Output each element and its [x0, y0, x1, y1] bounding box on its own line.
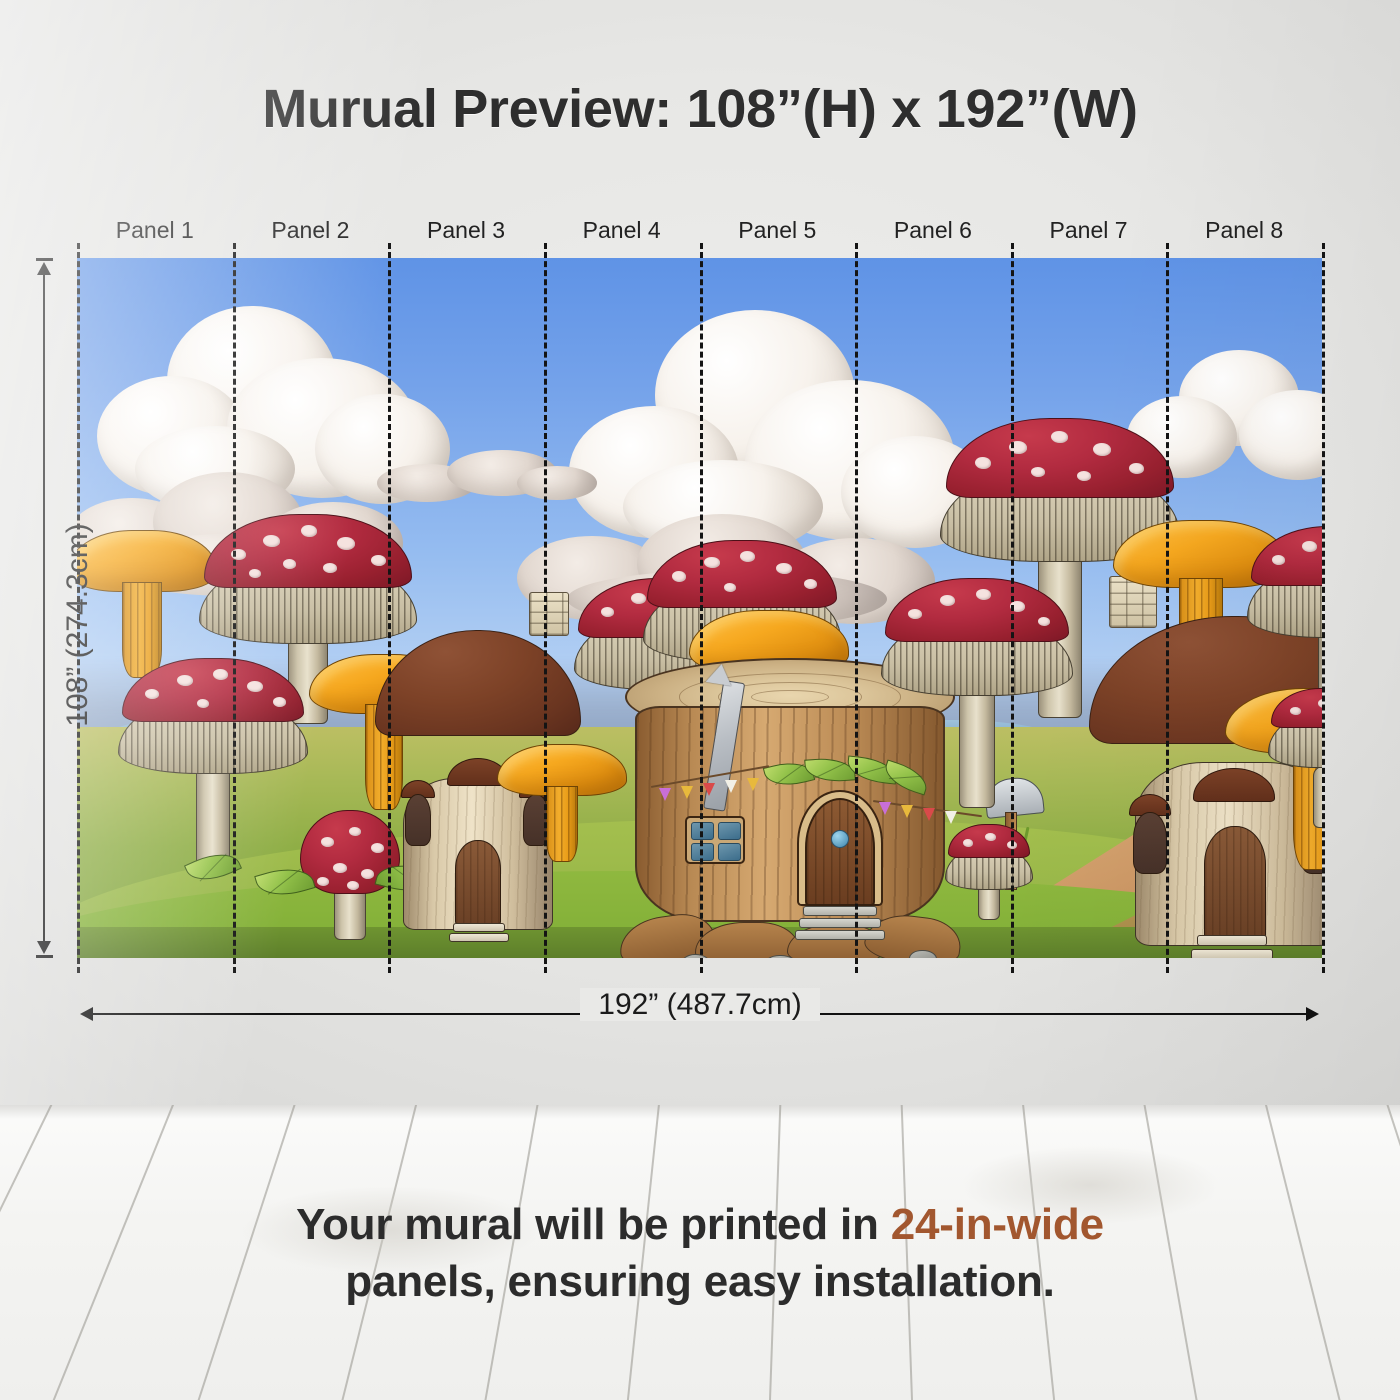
bunting-flag — [725, 780, 737, 793]
arrowhead-down-icon — [37, 941, 51, 954]
stone-step — [803, 906, 877, 916]
caption-text: Your mural will be printed in 24-in-wide… — [0, 1196, 1400, 1310]
width-dimension-text: 192” (487.7cm) — [580, 988, 819, 1021]
fly-agaric-near-mailbox — [943, 824, 1035, 920]
cottage-roof-cap — [375, 630, 581, 736]
panel-label-5: Panel 5 — [700, 215, 856, 249]
mushroom-stem — [1313, 766, 1322, 828]
mushroom-cap-red — [885, 578, 1069, 642]
panel-label-6: Panel 6 — [855, 215, 1011, 249]
mushroom-cap-red — [647, 540, 837, 608]
panel-label-8: Panel 8 — [1166, 215, 1322, 249]
fly-agaric-right-edge-small — [1265, 688, 1322, 828]
window-pane — [718, 822, 741, 840]
window-pane — [691, 822, 714, 840]
bunting-flag — [923, 808, 935, 821]
door-knob — [831, 830, 849, 848]
cottage-door — [1204, 826, 1266, 938]
mushroom-cap-red — [204, 514, 412, 588]
fly-agaric-lower-left — [113, 658, 313, 868]
bunting-flag — [747, 778, 759, 791]
panel-label-1: Panel 1 — [77, 215, 233, 249]
mushroom-cap-red — [948, 824, 1030, 858]
height-dimension-arrow — [36, 258, 52, 958]
height-dimension-label: 108” (274.3cm) — [61, 475, 95, 775]
dimension-line-vertical — [43, 266, 45, 950]
door-step — [453, 923, 505, 932]
wall-floor-shadow — [0, 1105, 1400, 1119]
mushroom-cap-red — [1251, 526, 1322, 586]
chanterelle-mushroom-left-low — [497, 744, 627, 796]
stone-step — [799, 918, 881, 928]
cottage-door — [455, 840, 501, 924]
mushroom-cap-red — [122, 658, 304, 722]
stone-step — [795, 930, 885, 940]
caption-line1-prefix: Your mural will be printed in — [296, 1200, 891, 1249]
caption-line2: panels, ensuring easy installation. — [0, 1253, 1400, 1310]
mushroom-cap-red — [946, 418, 1174, 498]
dimension-tick-top — [36, 258, 53, 261]
bunting-flag — [681, 786, 693, 799]
dimension-tick-bottom — [36, 955, 53, 958]
door-step — [1191, 949, 1273, 958]
cottage-window-left — [405, 794, 431, 846]
stone-chimney-left — [529, 592, 569, 636]
panel-divider-edge-right — [1322, 243, 1325, 973]
bunting-flag — [659, 788, 671, 801]
door-step — [449, 933, 509, 942]
mushroom-cap-red — [1271, 688, 1322, 728]
wall-background: Murual Preview: 108”(H) x 192”(W) Panel … — [0, 0, 1400, 1105]
window-pane — [691, 843, 714, 861]
door-step — [1197, 935, 1267, 946]
panel-label-7: Panel 7 — [1011, 215, 1167, 249]
panel-label-2: Panel 2 — [233, 215, 389, 249]
page-title: Murual Preview: 108”(H) x 192”(W) — [0, 78, 1400, 140]
chanterelle-stem — [546, 786, 578, 862]
chimney-cap-icon — [706, 662, 735, 686]
window-pane — [718, 843, 741, 861]
caption-accent-text: 24-in-wide — [891, 1200, 1104, 1249]
fly-agaric-mid-right — [877, 578, 1077, 808]
panel-label-4: Panel 4 — [544, 215, 700, 249]
mural-preview-image — [77, 258, 1322, 958]
bunting-flag — [703, 783, 715, 796]
stump-window — [685, 816, 745, 864]
stump-door — [805, 798, 875, 906]
width-dimension-label: 192” (487.7cm) — [0, 988, 1400, 1022]
panel-label-row: Panel 1 Panel 2 Panel 3 Panel 4 Panel 5 … — [77, 215, 1322, 249]
bunting-flag — [945, 811, 957, 824]
cottage-window-left — [1133, 812, 1167, 874]
panel-label-3: Panel 3 — [388, 215, 544, 249]
mushroom-stem — [959, 682, 995, 808]
